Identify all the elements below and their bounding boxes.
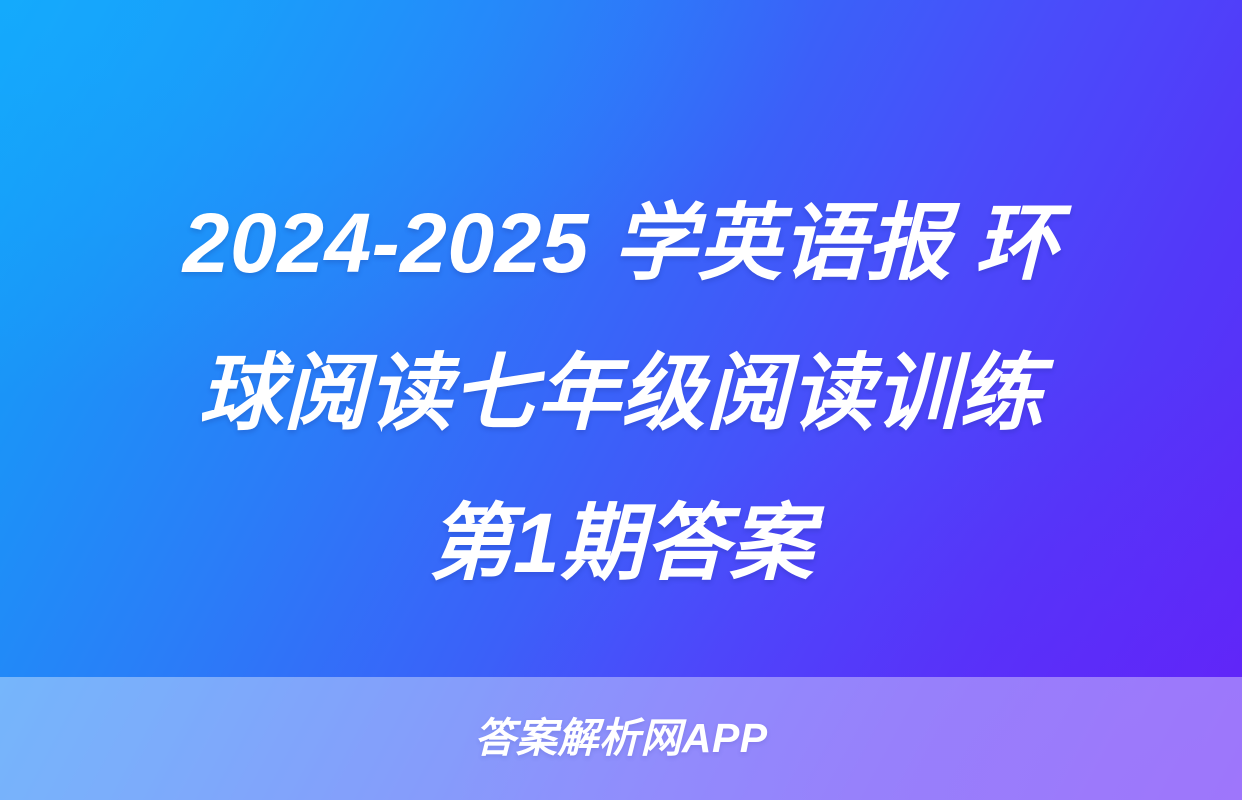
title-line-3: 第1期答案	[40, 468, 1202, 618]
title-block: 2024-2025 学英语报 环 球阅读七年级阅读训练 第1期答案	[0, 168, 1242, 618]
title-line-2: 球阅读七年级阅读训练	[40, 318, 1202, 468]
app-brand-label: 答案解析网APP	[474, 718, 767, 759]
title-line-1: 2024-2025 学英语报 环	[40, 168, 1202, 318]
footer-band: 答案解析网APP	[0, 677, 1242, 800]
cover-card: 2024-2025 学英语报 环 球阅读七年级阅读训练 第1期答案 答案解析网A…	[0, 0, 1242, 800]
